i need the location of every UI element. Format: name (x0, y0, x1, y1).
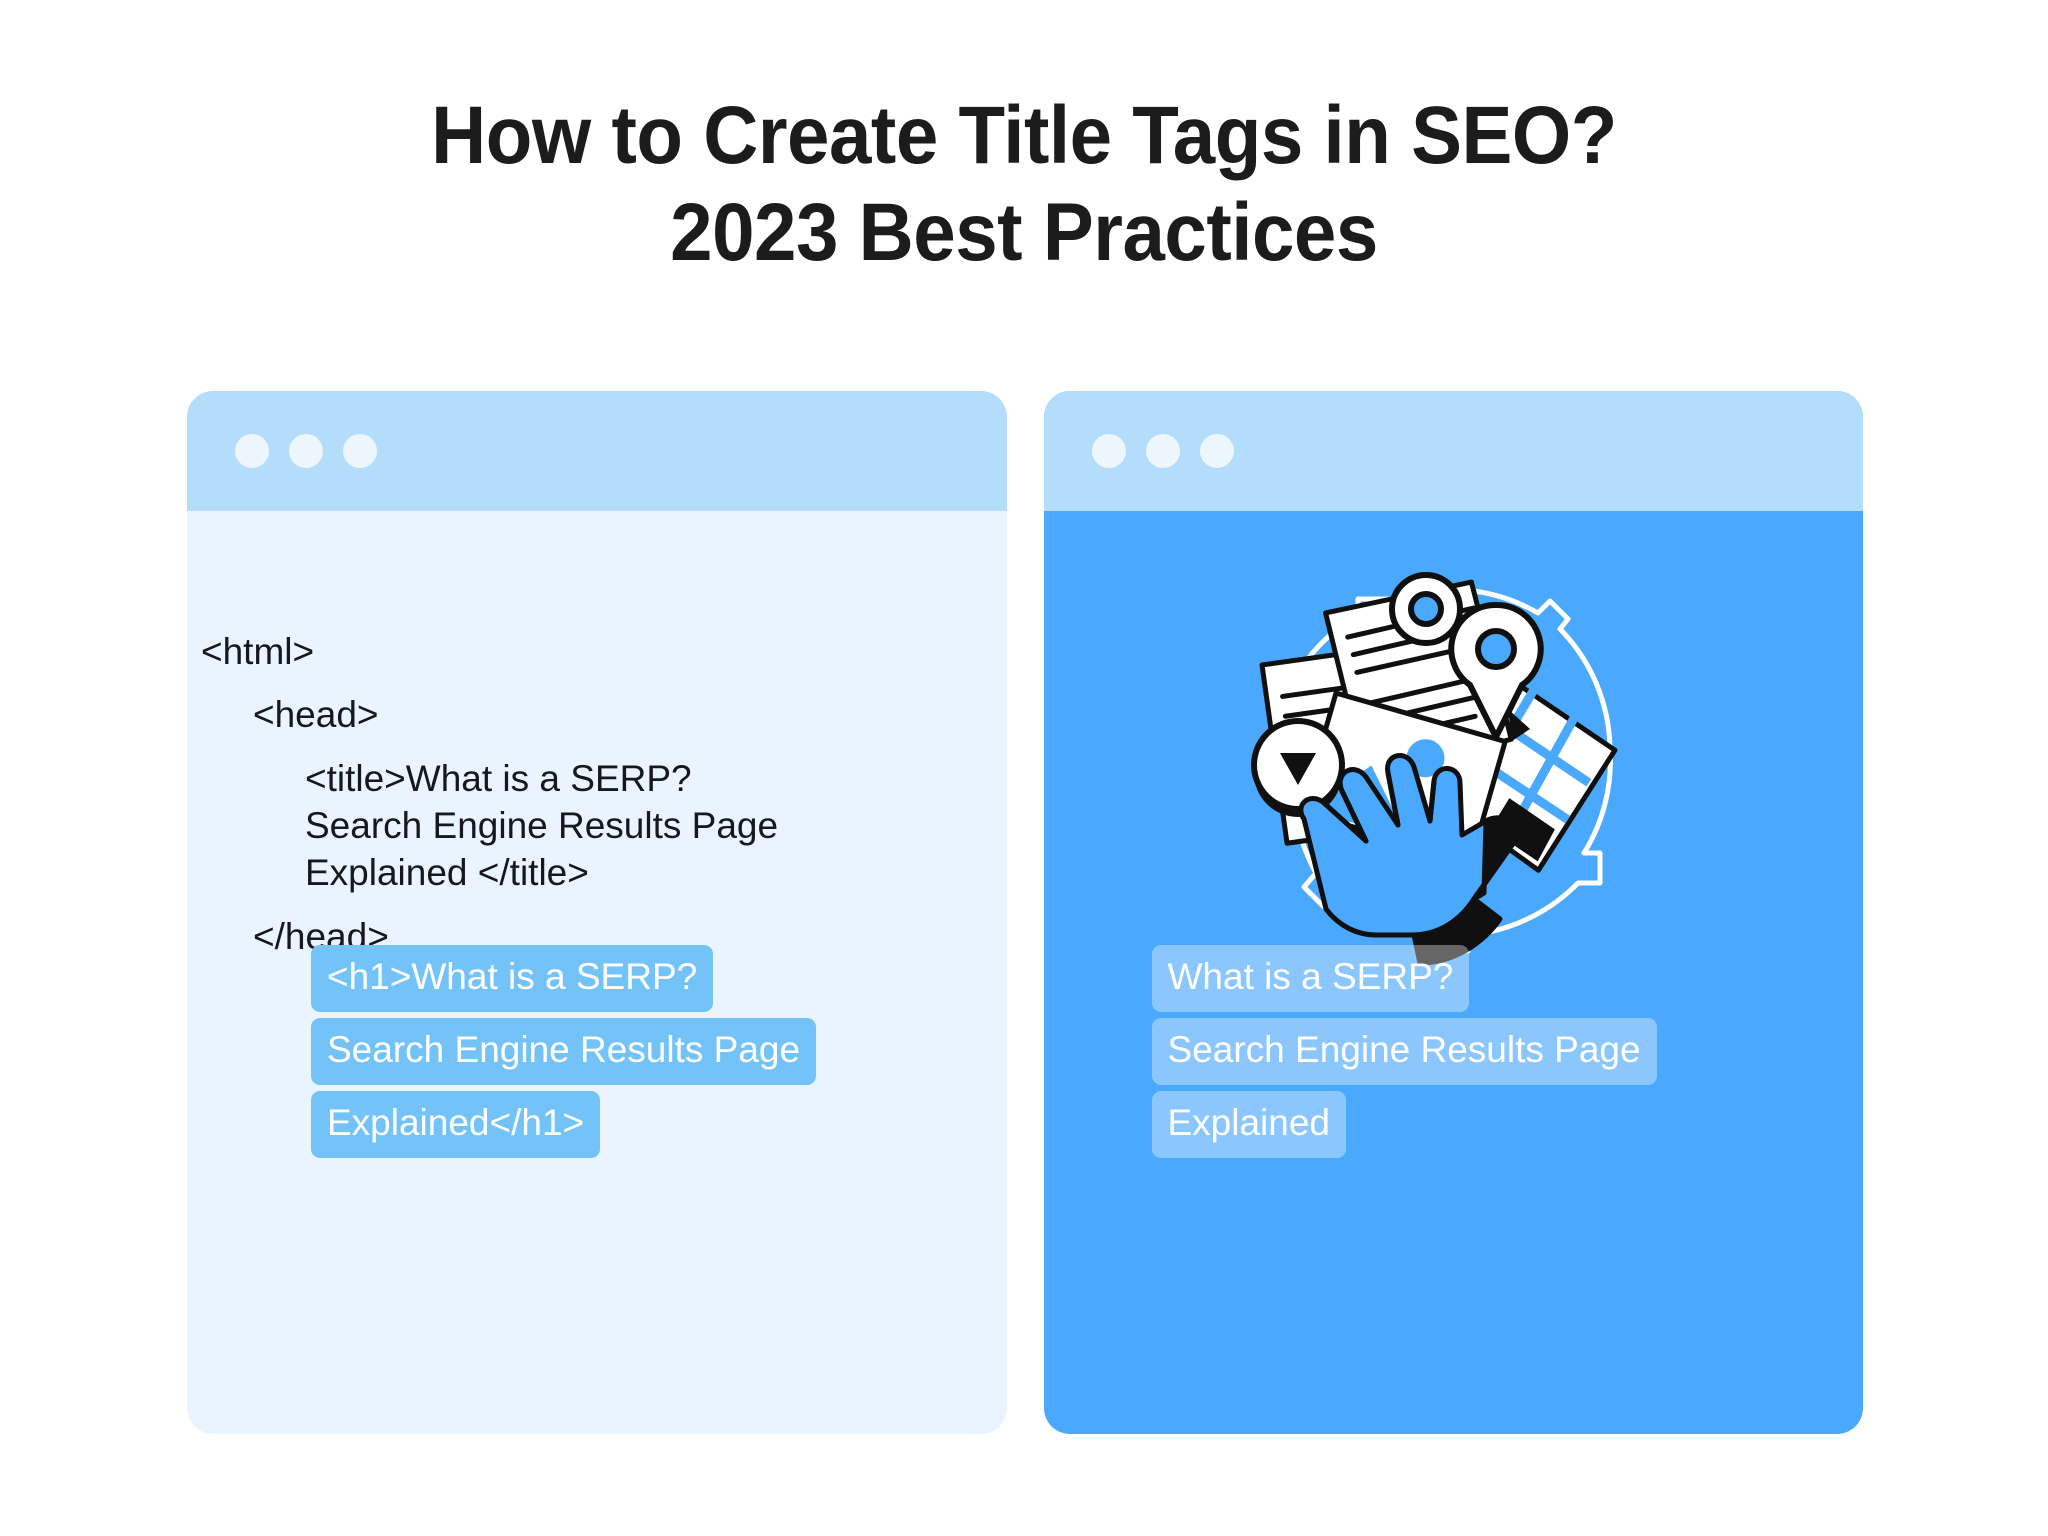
window-dot-close-icon[interactable] (1092, 434, 1126, 468)
panels-row: <html> <head> <title>What is a SERP? Sea… (187, 391, 1863, 1434)
rendered-title-chip-group: What is a SERP? Search Engine Results Pa… (1152, 945, 1657, 1158)
window-titlebar-right (1044, 391, 1864, 511)
code-window-panel: <html> <head> <title>What is a SERP? Sea… (187, 391, 1007, 1434)
page-root: How to Create Title Tags in SEO? 2023 Be… (0, 0, 2048, 1536)
page-title-line-2: 2023 Best Practices (72, 185, 1977, 282)
rendered-title-line-2: Search Engine Results Page (1152, 1018, 1657, 1085)
h1-chip-line-2: Search Engine Results Page (311, 1018, 816, 1085)
window-dot-close-icon[interactable] (235, 434, 269, 468)
h1-chip-line-3: Explained</h1> (311, 1091, 600, 1158)
window-dot-maximize-icon[interactable] (1200, 434, 1234, 468)
h1-chip-group: <h1>What is a SERP? Search Engine Result… (311, 945, 816, 1158)
window-dot-minimize-icon[interactable] (289, 434, 323, 468)
code-line-title-tag: <title>What is a SERP? Search Engine Res… (187, 755, 797, 897)
h1-chip-line-1: <h1>What is a SERP? (311, 945, 713, 1012)
hand-holding-search-results-illustration (1238, 553, 1668, 983)
code-line-html-open: <html> (187, 628, 1007, 675)
preview-window-panel: What is a SERP? Search Engine Results Pa… (1044, 391, 1864, 1434)
window-dot-minimize-icon[interactable] (1146, 434, 1180, 468)
window-titlebar-left (187, 391, 1007, 511)
html-code-snippet: <html> <head> <title>What is a SERP? Sea… (187, 628, 1007, 960)
preview-window-body: What is a SERP? Search Engine Results Pa… (1044, 511, 1864, 1434)
page-title: How to Create Title Tags in SEO? 2023 Be… (72, 88, 1977, 282)
code-line-head-open: <head> (187, 691, 1007, 738)
rendered-title-line-1: What is a SERP? (1152, 945, 1470, 1012)
page-title-line-1: How to Create Title Tags in SEO? (72, 88, 1977, 185)
window-dot-maximize-icon[interactable] (343, 434, 377, 468)
code-window-body: <html> <head> <title>What is a SERP? Sea… (187, 511, 1007, 1434)
rendered-title-line-3: Explained (1152, 1091, 1347, 1158)
